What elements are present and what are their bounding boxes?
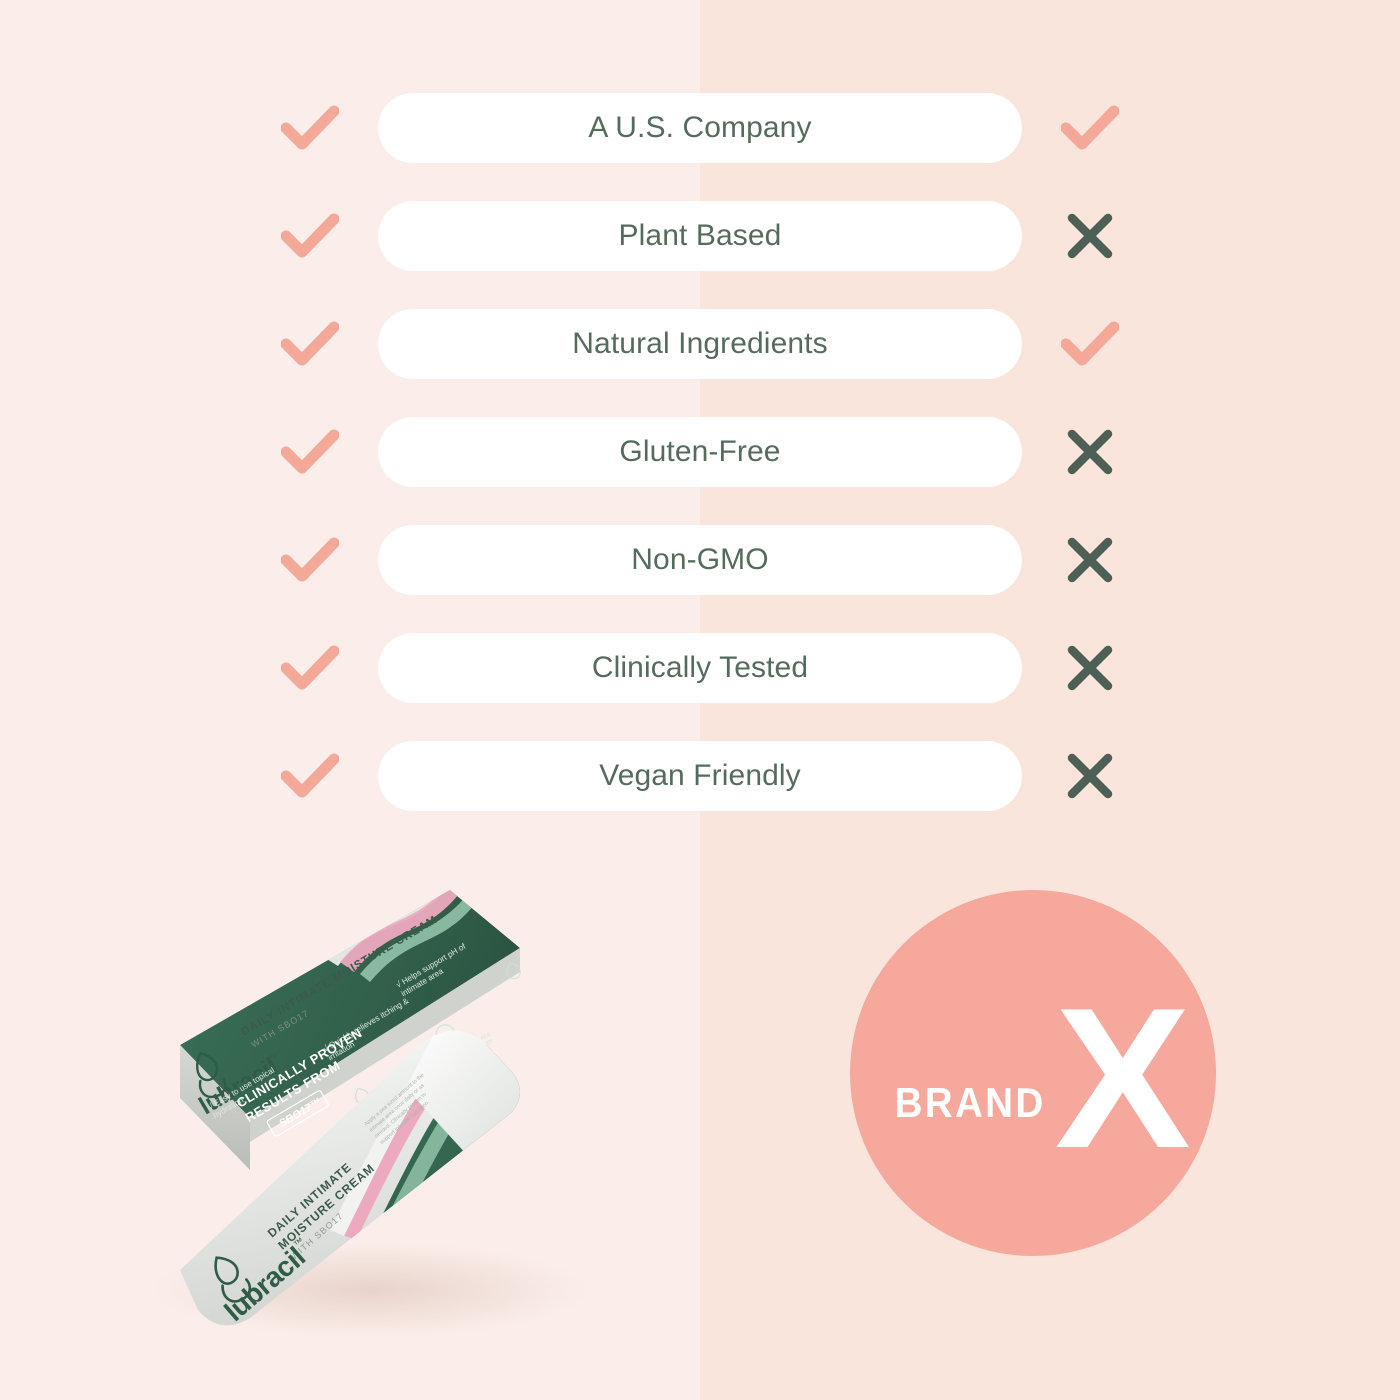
feature-pill: Gluten-Free (378, 417, 1022, 487)
feature-pill: Natural Ingredients (378, 309, 1022, 379)
feature-pill: Non-GMO (378, 525, 1022, 595)
check-icon-lubracil (260, 428, 360, 476)
brand-x-word-label: BRAND (895, 1082, 1046, 1124)
check-icon-lubracil (260, 212, 360, 260)
feature-pill: A U.S. Company (378, 93, 1022, 163)
feature-label: Non-GMO (631, 543, 768, 577)
feature-pill: Clinically Tested (378, 633, 1022, 703)
feature-label: A U.S. Company (588, 111, 811, 145)
check-icon-lubracil (260, 536, 360, 584)
feature-label: Vegan Friendly (599, 759, 801, 793)
feature-label: Plant Based (619, 219, 782, 253)
comparison-row: Non-GMO (260, 525, 1140, 595)
cross-icon-brand-x (1040, 643, 1140, 693)
feature-pill: Plant Based (378, 201, 1022, 271)
cross-icon-brand-x (1040, 427, 1140, 477)
comparison-row: Gluten-Free (260, 417, 1140, 487)
check-icon-brand-x (1040, 104, 1140, 152)
comparison-row: Vegan Friendly (260, 741, 1140, 811)
check-icon-lubracil (260, 752, 360, 800)
comparison-infographic: A U.S. CompanyPlant BasedNatural Ingredi… (0, 0, 1400, 1400)
feature-label: Gluten-Free (619, 435, 780, 469)
feature-label: Natural Ingredients (572, 327, 827, 361)
brand-x-badge: BRAND X (850, 890, 1216, 1256)
product-image: lubracil ™ DAILY INTIMATE MOISTURE CREAM… (120, 840, 680, 1340)
comparison-row: Natural Ingredients (260, 309, 1140, 379)
feature-label: Clinically Tested (592, 651, 808, 685)
cross-icon-brand-x (1040, 211, 1140, 261)
check-icon-brand-x (1040, 320, 1140, 368)
comparison-row: Plant Based (260, 201, 1140, 271)
comparison-row: Clinically Tested (260, 633, 1140, 703)
check-icon-lubracil (260, 644, 360, 692)
check-icon-lubracil (260, 104, 360, 152)
feature-pill: Vegan Friendly (378, 741, 1022, 811)
cross-icon-brand-x (1040, 751, 1140, 801)
brand-x-letter-label: X (1055, 1001, 1191, 1157)
check-icon-lubracil (260, 320, 360, 368)
comparison-row: A U.S. Company (260, 93, 1140, 163)
cross-icon-brand-x (1040, 535, 1140, 585)
